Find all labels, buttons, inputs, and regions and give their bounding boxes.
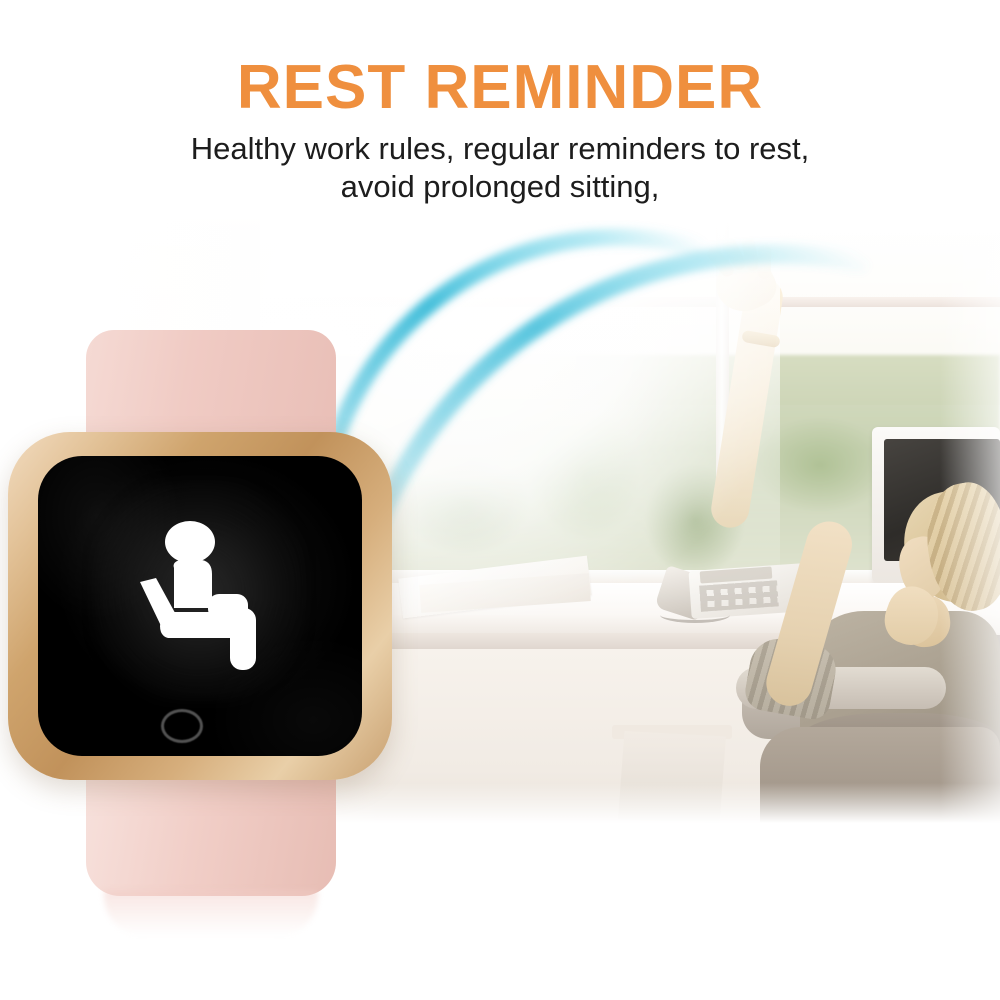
watch-reflection xyxy=(104,890,318,936)
home-button[interactable] xyxy=(161,709,203,743)
watch-case-bezel xyxy=(8,432,392,780)
waste-bin xyxy=(618,731,726,823)
watch-screen[interactable] xyxy=(38,456,362,756)
poster-root: REST REMINDER Healthy work rules, regula… xyxy=(0,0,1000,1000)
watch-band-lower xyxy=(86,760,336,896)
smart-watch[interactable] xyxy=(0,0,420,1000)
office-chair-seat xyxy=(760,727,1000,823)
sedentary-reminder-icon xyxy=(134,516,284,676)
